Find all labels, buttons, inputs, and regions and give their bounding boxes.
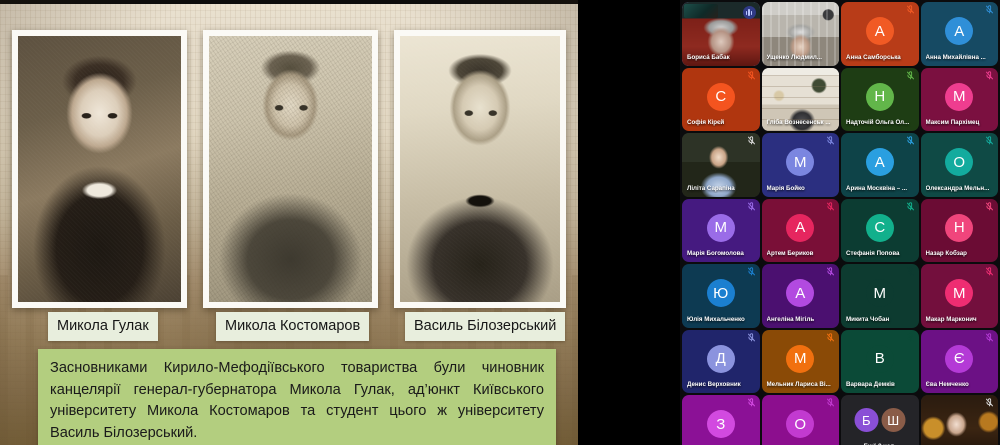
- mic-muted-icon: [985, 267, 994, 276]
- portrait-image-kostomarov: [209, 36, 372, 302]
- participant-tile[interactable]: Борисá Бабак: [682, 2, 760, 66]
- avatar: О: [945, 148, 973, 176]
- avatar: А: [786, 214, 814, 242]
- avatar: А: [866, 148, 894, 176]
- avatar: М: [786, 345, 814, 373]
- participant-name: Макар Марконич: [926, 316, 994, 324]
- avatar: А: [866, 17, 894, 45]
- mic-muted-icon: [985, 71, 994, 80]
- portrait-row: [0, 30, 578, 308]
- mic-muted-icon: [985, 136, 994, 145]
- participant-name: Варвара Демків: [846, 381, 914, 389]
- mic-muted-icon: [826, 398, 835, 407]
- caption-kostomarov: Микола Костомаров: [216, 312, 369, 341]
- slide-top-strip: [0, 0, 578, 4]
- mic-muted-icon: [906, 202, 915, 211]
- participant-tile[interactable]: ЄЄва Немченко: [921, 330, 999, 394]
- mic-muted-icon: [747, 398, 756, 407]
- participant-tile[interactable]: ННадточій Ольга Ол...: [841, 68, 919, 132]
- portrait-image-bilozerskyi: [400, 36, 560, 302]
- participant-tile[interactable]: Ущенко Людмил...: [762, 2, 840, 66]
- participant-tile[interactable]: ААрина Москвіна – ...: [841, 133, 919, 197]
- participant-tile[interactable]: ССтефанія Попова: [841, 199, 919, 263]
- overflow-avatars: БШ: [854, 408, 905, 432]
- participant-tile[interactable]: ММаксим Пархімeц: [921, 68, 999, 132]
- participant-tile[interactable]: ДДенис Верховник: [682, 330, 760, 394]
- participant-tile[interactable]: БШЕщё 9 чел.: [841, 395, 919, 445]
- participant-tile[interactable]: ЗЗабкина Тетяна Ген...: [682, 395, 760, 445]
- portrait-image-hulak: [18, 36, 181, 302]
- participant-name: Ущенко Людмил...: [767, 54, 835, 62]
- avatar: М: [786, 148, 814, 176]
- avatar: Ю: [707, 279, 735, 307]
- participant-tile[interactable]: ННазар Кобзар: [921, 199, 999, 263]
- participant-name: Марія Бойко: [767, 185, 835, 193]
- participant-tile[interactable]: ЮЮлія Михальченко: [682, 264, 760, 328]
- participant-tile[interactable]: ММарія Бойко: [762, 133, 840, 197]
- participant-name: Марія Богомолова: [687, 250, 755, 258]
- participant-name: Стефанія Попова: [846, 250, 914, 258]
- participant-tile[interactable]: Наталья Владими...: [921, 395, 999, 445]
- mic-muted-icon: [985, 398, 994, 407]
- participant-name: Олександра Мельн...: [926, 185, 994, 193]
- participant-name: Денис Верховник: [687, 381, 755, 389]
- avatar: М: [707, 214, 735, 242]
- participant-grid[interactable]: Борисá БабакУщенко Людмил...ААнна Самбор…: [680, 0, 1000, 445]
- shared-screen-stage: Микола Гулак Микола Костомаров Василь Бі…: [0, 0, 680, 445]
- portrait-bilozerskyi: [394, 30, 566, 308]
- participant-name: Борисá Бабак: [687, 54, 755, 62]
- portrait-kostomarov: [203, 30, 378, 308]
- mic-muted-icon: [985, 5, 994, 14]
- avatar: Н: [945, 214, 973, 242]
- participant-name: Арина Москвіна – ...: [846, 185, 914, 193]
- avatar: Д: [707, 345, 735, 373]
- participant-tile[interactable]: ММикита Чобан: [841, 264, 919, 328]
- participant-name: Максим Пархімeц: [926, 119, 994, 127]
- avatar: С: [866, 214, 894, 242]
- mic-muted-icon: [985, 333, 994, 342]
- participant-tile[interactable]: ААнгеліна Мігіль: [762, 264, 840, 328]
- participant-tile[interactable]: ММакар Марконич: [921, 264, 999, 328]
- mic-muted-icon: [826, 267, 835, 276]
- presentation-slide: Микола Гулак Микола Костомаров Василь Бі…: [0, 0, 578, 445]
- participant-tile[interactable]: ММельник Лариса Ві...: [762, 330, 840, 394]
- avatar: Є: [945, 345, 973, 373]
- mic-muted-icon: [747, 333, 756, 342]
- participant-tile[interactable]: ООлександра Марке...: [762, 395, 840, 445]
- participant-name: Юлія Михальченко: [687, 316, 755, 324]
- avatar: З: [707, 410, 735, 438]
- participant-name: Артем Бериков: [767, 250, 835, 258]
- participant-tile[interactable]: ААртем Бериков: [762, 199, 840, 263]
- mic-muted-icon: [747, 267, 756, 276]
- avatar: С: [707, 83, 735, 111]
- participant-name: Надточій Ольга Ол...: [846, 119, 914, 127]
- caption-bilozerskyi: Василь Білозерський: [405, 312, 565, 341]
- participant-tile[interactable]: ААнна Самборська: [841, 2, 919, 66]
- participant-name: Анна Михайлівна ...: [926, 54, 994, 62]
- participant-name: Гліба Вознесенськ ...: [767, 119, 835, 127]
- avatar: О: [786, 410, 814, 438]
- avatar: М: [866, 279, 894, 307]
- mic-muted-icon: [906, 333, 915, 342]
- participant-name: Анна Самборська: [846, 54, 914, 62]
- avatar: М: [945, 279, 973, 307]
- participant-name: Ангеліна Мігіль: [767, 316, 835, 324]
- participant-tile[interactable]: Ліліта Сарапіна: [682, 133, 760, 197]
- mic-muted-icon: [826, 333, 835, 342]
- participant-tile[interactable]: ООлександра Мельн...: [921, 133, 999, 197]
- mic-muted-icon: [826, 136, 835, 145]
- screen-root: Микола Гулак Микола Костомаров Василь Бі…: [0, 0, 1000, 445]
- participant-name: Мельник Лариса Ві...: [767, 381, 835, 389]
- participant-tile[interactable]: ВВарвара Демків: [841, 330, 919, 394]
- avatar: Н: [866, 83, 894, 111]
- mic-muted-icon: [747, 136, 756, 145]
- mic-muted-icon: [826, 202, 835, 211]
- slide-body-text: Засновниками Кирило-Мефодіївського товар…: [38, 349, 556, 445]
- participant-tile[interactable]: ССофія Кірєй: [682, 68, 760, 132]
- portrait-hulak: [12, 30, 187, 308]
- avatar: Ш: [881, 408, 905, 432]
- mic-muted-icon: [747, 71, 756, 80]
- mic-muted-icon: [906, 5, 915, 14]
- speaking-indicator-icon: [743, 6, 756, 19]
- mic-muted-icon: [906, 136, 915, 145]
- avatar: А: [945, 17, 973, 45]
- avatar: В: [866, 345, 894, 373]
- avatar: М: [945, 83, 973, 111]
- participant-tile[interactable]: ААнна Михайлівна ...: [921, 2, 999, 66]
- avatar: А: [786, 279, 814, 307]
- participant-tile[interactable]: ММарія Богомолова: [682, 199, 760, 263]
- participant-name: Єва Немченко: [926, 381, 994, 389]
- avatar: Б: [854, 408, 878, 432]
- mic-muted-icon: [906, 267, 915, 276]
- participant-name: Софія Кірєй: [687, 119, 755, 127]
- mic-muted-icon: [906, 71, 915, 80]
- caption-hulak: Микола Гулак: [48, 312, 158, 341]
- mic-muted-icon: [747, 202, 756, 211]
- participant-name: Назар Кобзар: [926, 250, 994, 258]
- mic-muted-icon: [985, 202, 994, 211]
- participant-tile[interactable]: Гліба Вознесенськ ...: [762, 68, 840, 132]
- participant-name: Микита Чобан: [846, 316, 914, 324]
- participant-name: Ліліта Сарапіна: [687, 185, 755, 193]
